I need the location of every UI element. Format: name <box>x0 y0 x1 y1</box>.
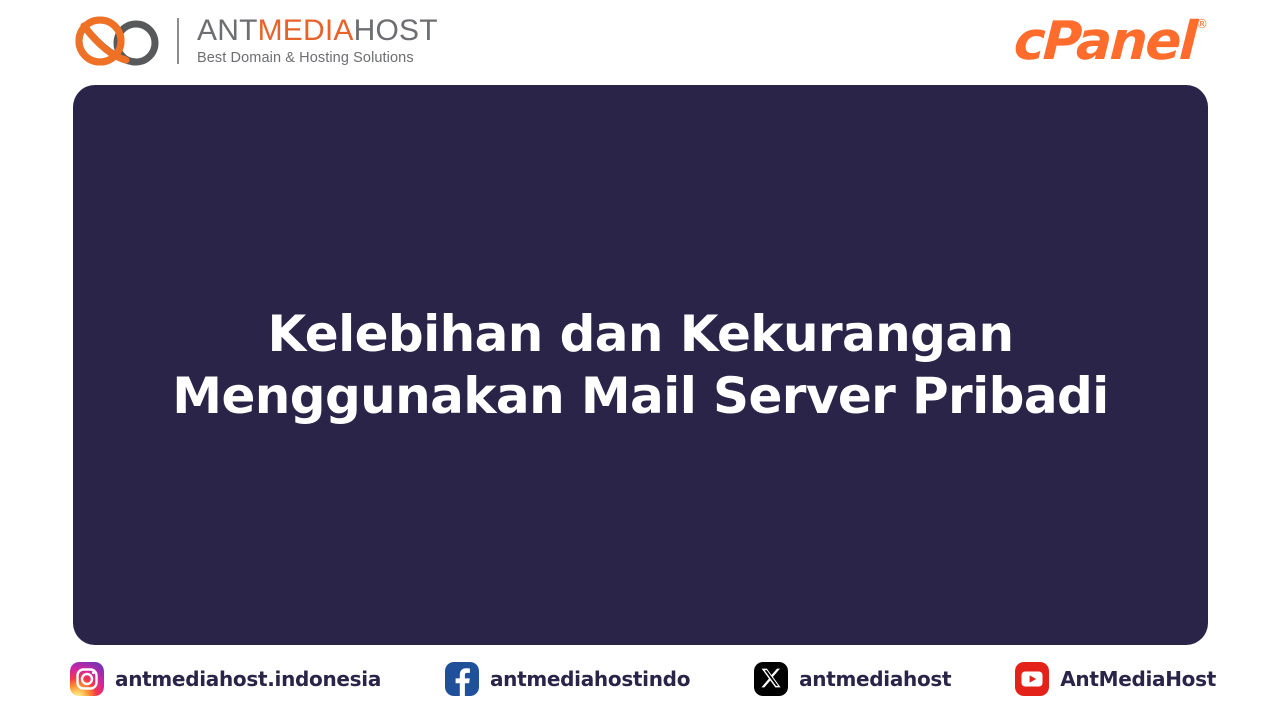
social-handle-youtube: AntMediaHost <box>1060 667 1216 691</box>
brand-wordmark: ANTMEDIAHOST <box>197 16 438 47</box>
facebook-icon <box>445 662 479 696</box>
header-bar: ANTMEDIAHOST Best Domain & Hosting Solut… <box>0 0 1280 82</box>
social-link-facebook[interactable]: antmediahostindo <box>445 662 690 696</box>
hero-card: Kelebihan dan Kekurangan Menggunakan Mai… <box>73 85 1208 645</box>
registered-trademark-icon: ® <box>1196 18 1208 30</box>
slide-canvas: ANTMEDIAHOST Best Domain & Hosting Solut… <box>0 0 1280 720</box>
social-handle-facebook: antmediahostindo <box>490 667 690 691</box>
youtube-icon <box>1015 662 1049 696</box>
brand-logo[interactable]: ANTMEDIAHOST Best Domain & Hosting Solut… <box>70 13 438 69</box>
brand-wordmark-group: ANTMEDIAHOST Best Domain & Hosting Solut… <box>197 16 438 66</box>
brand-tagline: Best Domain & Hosting Solutions <box>197 50 438 66</box>
x-twitter-icon <box>754 662 788 696</box>
wordmark-host: HOST <box>354 14 438 47</box>
cpanel-logo-text: cPanel <box>1012 15 1196 68</box>
infinity-loop-icon <box>70 13 166 69</box>
social-link-x-twitter[interactable]: antmediahost <box>754 662 951 696</box>
social-handle-x-twitter: antmediahost <box>799 667 951 691</box>
instagram-icon <box>70 662 104 696</box>
social-handle-instagram: antmediahost.indonesia <box>115 667 381 691</box>
cpanel-logo[interactable]: cPanel ® <box>1014 15 1210 68</box>
page-title: Kelebihan dan Kekurangan Menggunakan Mai… <box>141 303 1141 427</box>
brand-divider <box>177 18 179 64</box>
wordmark-ant: ANT <box>197 14 258 47</box>
wordmark-media: MEDIA <box>258 14 354 47</box>
social-links-bar: antmediahost.indonesia antmediahostindo … <box>70 656 1216 702</box>
social-link-instagram[interactable]: antmediahost.indonesia <box>70 662 381 696</box>
social-link-youtube[interactable]: AntMediaHost <box>1015 662 1216 696</box>
